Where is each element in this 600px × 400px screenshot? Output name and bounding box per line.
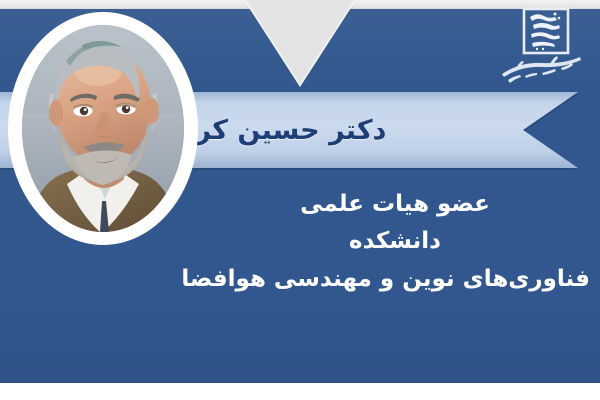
portrait-frame <box>8 12 198 245</box>
university-logo <box>492 6 588 90</box>
faculty-description: عضو هیات علمی دانشکده فناوری‌های نوین و … <box>200 186 590 298</box>
description-line-2: دانشکده <box>200 223 590 260</box>
description-line-1: عضو هیات علمی <box>200 186 590 223</box>
faculty-announcement-card: دکتر حسین کرمانیان <box>0 0 600 400</box>
portrait-photo <box>22 25 184 232</box>
description-line-3: فناوری‌های نوین و مهندسی هوافضا <box>200 261 590 298</box>
bottom-edge-strip <box>0 383 600 400</box>
